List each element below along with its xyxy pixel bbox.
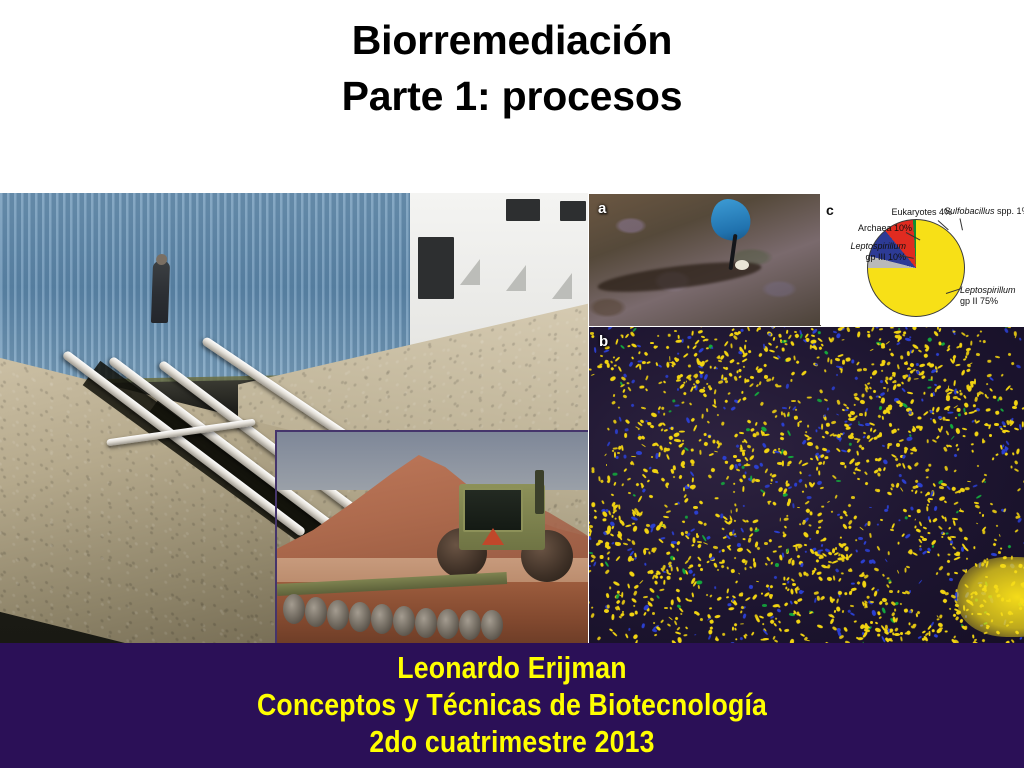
panel-b-fish-image: b xyxy=(588,326,1024,643)
pie-label-lepto-gp3: Leptospirillum gp III 10% xyxy=(820,241,906,263)
harrow-disc xyxy=(327,600,349,630)
building-brace-3 xyxy=(552,273,572,299)
harrow-disc xyxy=(437,609,459,639)
tractor-exhaust-stack xyxy=(535,470,544,514)
pie-label-lepto-gp2: Leptospirillum gp II 75% xyxy=(960,285,1024,307)
panel-label-b: b xyxy=(599,333,608,350)
pie-label-lepto-gp2-genus: Leptospirillum xyxy=(960,285,1024,296)
panel-a-texture xyxy=(589,194,821,326)
pie-label-archaea: Archaea 10% xyxy=(824,223,912,234)
building-brace-1 xyxy=(460,259,480,285)
footer-line-course: Conceptos y Técnicas de Biotecnología xyxy=(72,686,953,723)
title-line-2: Parte 1: procesos xyxy=(0,68,1024,124)
title-line-1: Biorremediación xyxy=(0,12,1024,68)
panel-a-highlight xyxy=(735,260,749,270)
harrow-disc xyxy=(371,604,393,634)
footer-text-block: Leonardo Erijman Conceptos y Técnicas de… xyxy=(0,649,1024,760)
harrow-disc xyxy=(349,602,371,632)
pie-label-sulfobacillus-rest: spp. 1% xyxy=(997,206,1024,216)
worker-figure xyxy=(151,261,170,323)
panel-label-a: a xyxy=(598,200,606,217)
harrow-disc xyxy=(459,610,481,640)
building-window-2 xyxy=(560,201,586,221)
panel-b-cells xyxy=(588,326,1024,643)
footer-line-term: 2do cuatrimestre 2013 xyxy=(72,723,953,760)
tractor-cab xyxy=(463,488,523,532)
pie-label-eukaryotes: Eukaryotes 4% xyxy=(840,207,952,218)
building-door xyxy=(418,237,454,299)
pie-label-eukaryotes-text: Eukaryotes 4% xyxy=(891,207,952,217)
harrow-disc xyxy=(481,610,503,640)
page-title: Biorremediación Parte 1: procesos xyxy=(0,12,1024,124)
footer-line-author: Leonardo Erijman xyxy=(72,649,953,686)
harrow-disc xyxy=(415,608,437,638)
pie-label-lepto-gp3-genus: Leptospirillum xyxy=(820,241,906,252)
building-window-1 xyxy=(506,199,540,221)
slide-root: Biorremediación Parte 1: procesos xyxy=(0,0,1024,768)
pie-label-sulfobacillus-genus: Sulfobacillus xyxy=(944,206,995,216)
pie-label-archaea-text: Archaea 10% xyxy=(858,223,912,233)
harrow-disc xyxy=(393,606,415,636)
building-brace-2 xyxy=(506,265,526,291)
tractor-disc-harrow-photo xyxy=(275,430,592,643)
pie-label-lepto-gp2-rest: gp II 75% xyxy=(960,296,1024,307)
figure-band: a b c Eukaryotes 4% Sulfobacillus spp. 1… xyxy=(0,193,1024,643)
pie-label-sulfobacillus: Sulfobacillus spp. 1% xyxy=(944,206,1024,217)
panel-label-c: c xyxy=(826,202,834,218)
pie-label-lepto-gp3-rest: gp III 10% xyxy=(820,252,906,263)
panel-a-photo: a xyxy=(588,193,822,327)
slow-vehicle-triangle xyxy=(482,528,504,545)
panel-c-pie-chart: c Eukaryotes 4% Sulfobacillus spp. 1% Ar… xyxy=(820,193,1024,325)
footer-bar: Leonardo Erijman Conceptos y Técnicas de… xyxy=(0,643,1024,768)
harrow-disc xyxy=(283,594,305,624)
harrow-disc xyxy=(305,597,327,627)
